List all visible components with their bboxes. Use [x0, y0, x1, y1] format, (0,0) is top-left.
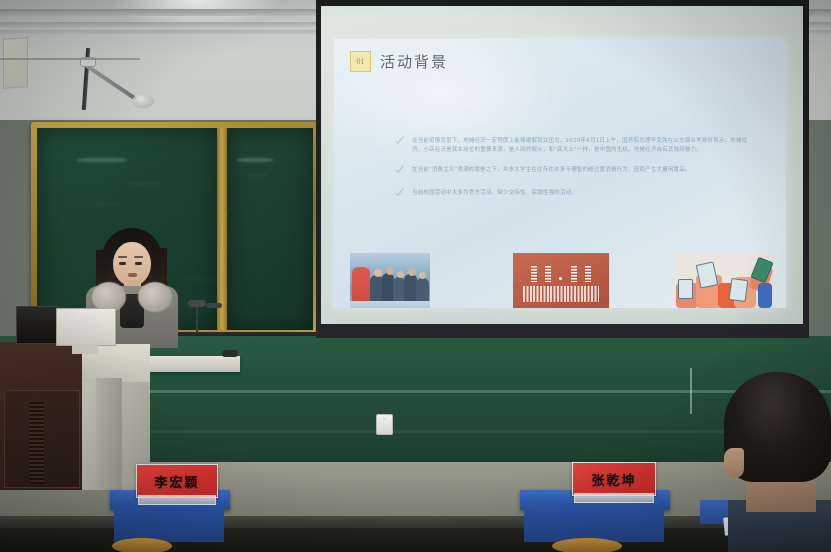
podium-dark-monitor[interactable]: [16, 306, 60, 344]
ceiling-cable: [0, 58, 140, 60]
podium-monitor[interactable]: [56, 308, 114, 354]
slide-image-phone-shopping: [674, 253, 774, 308]
slide-title: 活动背景: [380, 51, 448, 72]
podium-vent: [30, 402, 44, 484]
wall-mark: [690, 368, 692, 414]
microphone-stem: [196, 306, 198, 332]
slide-bullet: 当前校园活动中大多为官方活动，缺少交际性、实践性强的活动。: [394, 189, 749, 201]
microphone-head: [188, 300, 206, 307]
slide-bullet: 在当前疫情背景下，地摊经济一定程度上能够缓解就业压力。2020年6月1日上午，国…: [394, 137, 749, 155]
slide-image-double-eleven: [513, 253, 609, 308]
nameplate-right-stand: [574, 493, 654, 503]
desk-front-panel: [114, 508, 224, 542]
podium-shelf: [144, 356, 240, 372]
double-eleven-banner: [513, 253, 609, 308]
nameplate-left-stand: [138, 495, 216, 505]
desk-front-panel: [524, 508, 664, 542]
audience-ear: [724, 448, 744, 478]
podium-microphone[interactable]: [180, 300, 226, 334]
podium-monitor-screen: [56, 308, 116, 346]
slide-image-street-market: [350, 253, 430, 308]
presenter-mouth: [128, 273, 137, 277]
projector-support-bar: [83, 62, 137, 100]
wall-switch-panel[interactable]: ▫▫: [376, 414, 393, 435]
presentation-slide: 01 活动背景 在当前疫情背景下，地摊经济一定程度上能够缓解就业压力。2020年…: [334, 39, 786, 308]
check-icon: [394, 190, 405, 201]
nameplate-left-text: 李宏颖: [154, 472, 199, 491]
projector-arm: [60, 48, 180, 108]
classroom-photo-scene: ▫▫ 01 活动背景 在当前疫情背景下，地摊经济一定程度上能够缓解就业压力。20…: [0, 0, 831, 552]
slide-bullet: 在当前"消费主义"浪潮的席卷之下，众多大学生往往存在许多不理智的超过度消费行为，…: [394, 166, 749, 178]
audience-member-back-of-head: [724, 372, 831, 552]
slide-bullet-text: 当前校园活动中大多为官方活动，缺少交际性、实践性强的活动。: [412, 189, 577, 201]
slide-bullet-text: 在当前"消费主义"浪潮的席卷之下，众多大学生往往存在许多不理智的超过度消费行为，…: [412, 166, 691, 178]
presenter-fur-collar: [138, 282, 172, 312]
slide-number-badge: 01: [350, 51, 371, 72]
projection-screen-frame: 01 活动背景 在当前疫情背景下，地摊经济一定程度上能够缓解就业压力。2020年…: [316, 0, 809, 338]
microphone-head: [206, 303, 222, 308]
chair-right: [552, 538, 622, 552]
slide-bullet-text: 在当前疫情背景下，地摊经济一定程度上能够缓解就业压力。2020年6月1日上午，国…: [412, 137, 749, 155]
podium-wood-panel: [0, 342, 88, 490]
street-market-photo: [350, 253, 430, 308]
podium-column: [96, 378, 122, 490]
chair-left: [112, 538, 172, 552]
nameplate-right-card: 张乾坤: [572, 462, 656, 496]
nameplate-left-card: 李宏颖: [136, 464, 218, 498]
projector-base: [132, 94, 154, 108]
slide-bullet-list: 在当前疫情背景下，地摊经济一定程度上能够缓解就业压力。2020年6月1日上午，国…: [394, 137, 749, 212]
shopping-festival-text: [523, 286, 599, 303]
podium-monitor-stand: [72, 344, 98, 354]
remote-control[interactable]: [222, 350, 238, 357]
phone-shopping-illustration: [674, 253, 774, 308]
eleven-eleven-digits: [526, 266, 595, 283]
wall-plaque: [3, 37, 28, 89]
check-icon: [394, 138, 405, 149]
slide-header: 01 活动背景: [350, 51, 448, 72]
nameplate-right-text: 张乾坤: [591, 470, 636, 489]
check-icon: [394, 167, 405, 178]
projection-screen-surface: 01 活动背景 在当前疫情背景下，地摊经济一定程度上能够缓解就业压力。2020年…: [321, 6, 803, 324]
